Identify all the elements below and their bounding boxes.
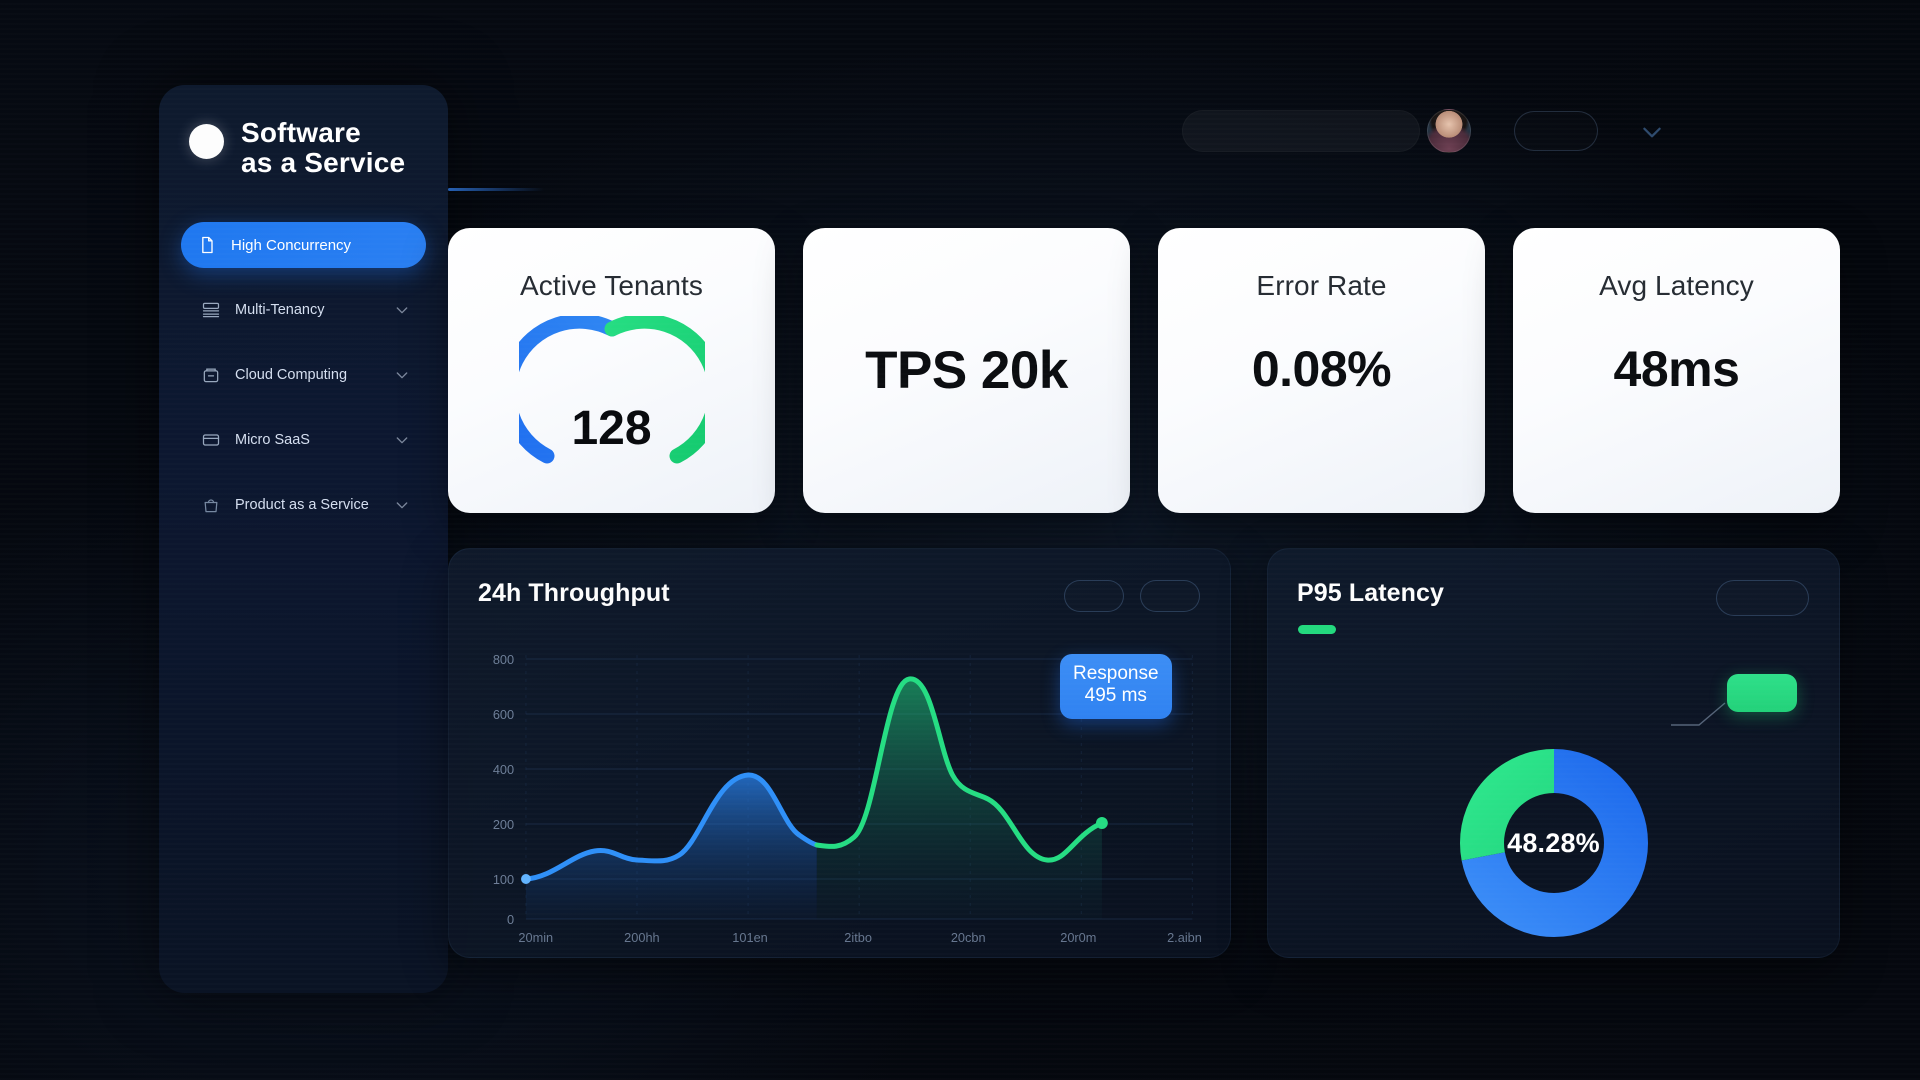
bag-icon: [201, 495, 221, 515]
topbar: [448, 103, 1840, 165]
kpi-title: Active Tenants: [520, 270, 703, 302]
svg-text:0: 0: [507, 912, 514, 927]
sidebar-item-high-concurrency[interactable]: High Concurrency: [181, 222, 426, 268]
donut-center-value: 48.28%: [1456, 745, 1652, 941]
main-content: Active Tenants: [448, 85, 1840, 1000]
svg-text:20min: 20min: [518, 930, 553, 945]
kpi-card-tps[interactable]: TPS 20k: [803, 228, 1130, 513]
svg-text:20cbn: 20cbn: [951, 930, 986, 945]
account-button[interactable]: [1514, 111, 1598, 151]
svg-text:2.aibn: 2.aibn: [1167, 930, 1202, 945]
brand: Software as a Service: [159, 85, 448, 177]
brand-name: Software as a Service: [241, 118, 405, 177]
circle-logo-icon: [189, 124, 224, 159]
svg-text:200: 200: [493, 817, 514, 832]
sidebar: Software as a Service High Concurrency: [159, 85, 448, 993]
svg-text:400: 400: [493, 762, 514, 777]
donut-callout-label: [1727, 674, 1797, 712]
sidebar-item-product-as-a-service[interactable]: Product as a Service: [181, 482, 426, 528]
svg-text:600: 600: [493, 707, 514, 722]
panel-title: 24h Throughput: [478, 579, 670, 608]
avatar[interactable]: [1427, 109, 1471, 153]
sidebar-item-micro-saas[interactable]: Micro SaaS: [181, 417, 426, 463]
sidebar-item-label: High Concurrency: [231, 237, 410, 254]
chevron-down-icon[interactable]: [394, 302, 410, 318]
callout-leader-line: [1669, 699, 1727, 727]
svg-text:200hh: 200hh: [624, 930, 660, 945]
p95-latency-donut: 48.28%: [1456, 745, 1652, 941]
panels-row: 24h Throughput: [448, 548, 1840, 958]
legend-swatch: [1298, 625, 1336, 634]
throughput-range-button-2[interactable]: [1140, 580, 1200, 612]
sidebar-item-label: Multi-Tenancy: [235, 302, 380, 318]
tooltip-value: 495 ms: [1073, 685, 1159, 707]
latency-panel-controls: [1716, 580, 1809, 616]
chart-tooltip: Response 495 ms: [1060, 654, 1172, 719]
dashboard-root: Software as a Service High Concurrency: [0, 0, 1920, 1080]
active-tenants-gauge: 128: [519, 316, 705, 466]
server-stack-icon: [201, 300, 221, 320]
latency-range-button[interactable]: [1716, 580, 1809, 616]
latency-panel: P95 Latency: [1267, 548, 1840, 958]
box-icon: [201, 365, 221, 385]
chevron-down-icon[interactable]: [1639, 119, 1665, 145]
kpi-card-avg-latency[interactable]: Avg Latency 48ms: [1513, 228, 1840, 513]
svg-text:100: 100: [493, 872, 514, 887]
throughput-panel-controls: [1064, 580, 1200, 612]
chevron-down-icon[interactable]: [394, 367, 410, 383]
svg-text:800: 800: [493, 652, 514, 667]
panel-title: P95 Latency: [1297, 579, 1444, 608]
tooltip-label: Response: [1073, 663, 1159, 685]
sidebar-item-cloud-computing[interactable]: Cloud Computing: [181, 352, 426, 398]
throughput-range-button-1[interactable]: [1064, 580, 1124, 612]
sidebar-item-label: Product as a Service: [235, 497, 380, 513]
kpi-card-error-rate[interactable]: Error Rate 0.08%: [1158, 228, 1485, 513]
kpi-title: Error Rate: [1256, 270, 1386, 302]
svg-text:2itbo: 2itbo: [844, 930, 872, 945]
sidebar-item-label: Cloud Computing: [235, 367, 380, 383]
kpi-row: Active Tenants: [448, 228, 1840, 513]
document-icon: [197, 235, 217, 255]
sidebar-item-label: Micro SaaS: [235, 432, 380, 448]
throughput-panel: 24h Throughput: [448, 548, 1231, 958]
sidebar-nav: High Concurrency Multi-Tenancy: [159, 222, 448, 528]
active-tab-indicator: [448, 188, 544, 191]
sidebar-item-multi-tenancy[interactable]: Multi-Tenancy: [181, 287, 426, 333]
kpi-value: TPS 20k: [865, 340, 1068, 401]
kpi-value: 48ms: [1614, 340, 1740, 398]
kpi-title: Avg Latency: [1599, 270, 1754, 302]
window-icon: [201, 430, 221, 450]
search-input[interactable]: [1182, 110, 1420, 152]
kpi-card-active-tenants[interactable]: Active Tenants: [448, 228, 775, 513]
chevron-down-icon[interactable]: [394, 497, 410, 513]
chevron-down-icon[interactable]: [394, 432, 410, 448]
svg-text:101en: 101en: [732, 930, 768, 945]
svg-text:20r0m: 20r0m: [1060, 930, 1096, 945]
kpi-value: 128: [519, 401, 705, 456]
kpi-value: 0.08%: [1252, 340, 1391, 398]
